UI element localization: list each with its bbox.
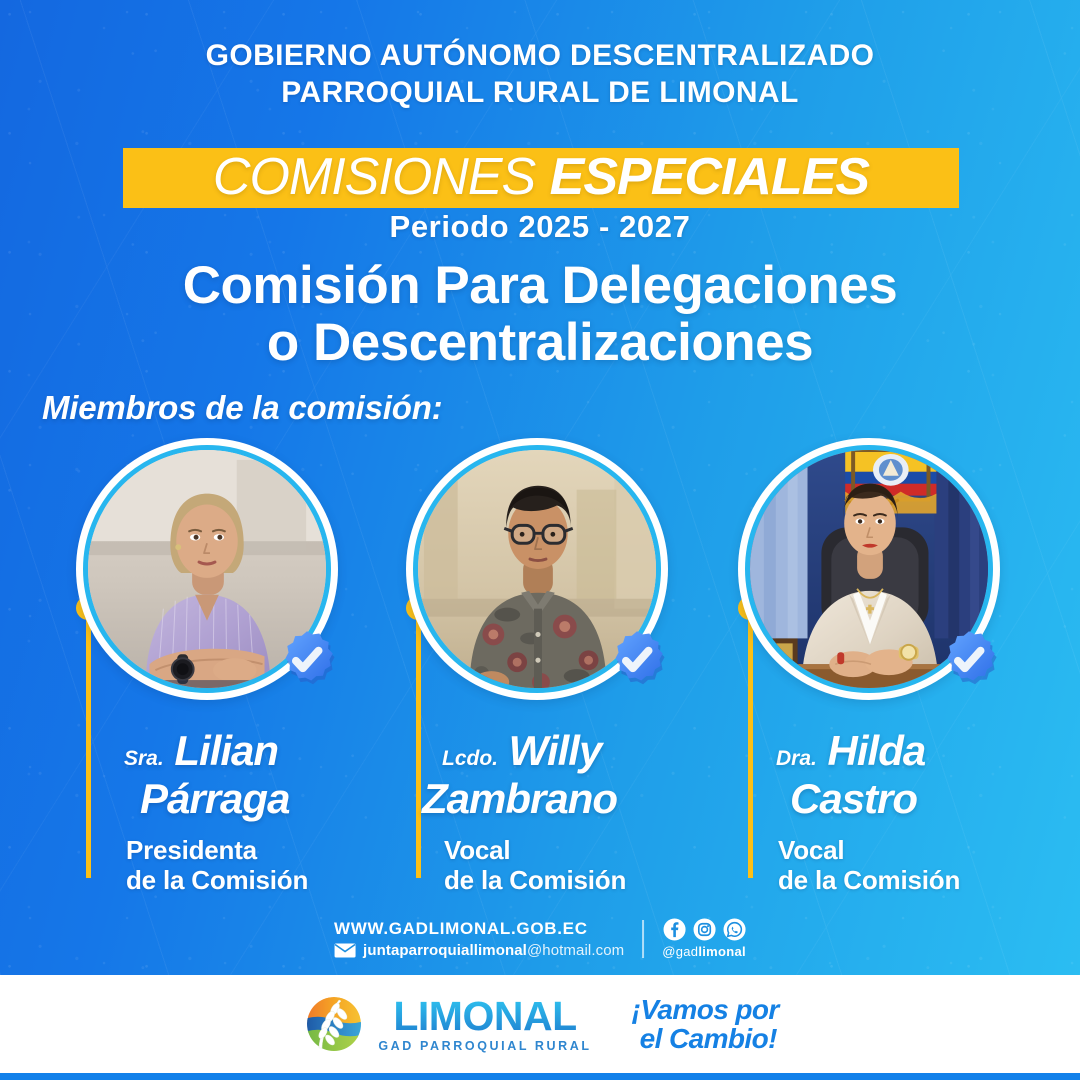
member-last-name: Zambrano: [414, 778, 704, 820]
member-last-name: Castro: [746, 778, 1036, 820]
contact-divider: [642, 920, 644, 958]
bottom-logo-bar: LIMONAL GAD PARROQUIAL RURAL ¡Vamos por …: [0, 975, 1080, 1073]
member-name-line1: Sra. Lilian: [84, 730, 374, 772]
instagram-icon[interactable]: [693, 918, 716, 941]
contact-right: @gadlimonal: [662, 918, 746, 959]
website-link[interactable]: WWW.GADLIMONAL.GOB.EC: [334, 919, 588, 939]
email-row[interactable]: juntaparroquiallimonal@hotmail.com: [334, 942, 624, 959]
member-role: Vocal de la Comisión: [746, 835, 1036, 895]
member-honorific: Sra.: [124, 747, 164, 770]
member-role-line2: de la Comisión: [444, 865, 704, 895]
logo-wordmark: LIMONAL GAD PARROQUIAL RURAL: [378, 996, 591, 1053]
bottom-blue-strip: [0, 1073, 1080, 1080]
email-text: juntaparroquiallimonal@hotmail.com: [363, 942, 624, 959]
members-heading: Miembros de la comisión:: [42, 389, 442, 427]
commission-title-line1: Comisión Para Delegaciones: [0, 258, 1080, 315]
contact-footer: WWW.GADLIMONAL.GOB.EC juntaparroquiallim…: [0, 918, 1080, 966]
verified-badge-icon: [600, 622, 674, 696]
member-honorific: Dra.: [776, 747, 817, 770]
member-name-line1: Dra. Hilda: [746, 730, 1036, 772]
comisiones-banner: COMISIONES ESPECIALES: [123, 148, 959, 208]
limonal-emblem-icon: [301, 994, 367, 1054]
envelope-icon: [334, 943, 356, 958]
social-icons: [663, 918, 746, 941]
slogan: ¡Vamos por el Cambio!: [632, 995, 779, 1053]
handle-prefix: @gad: [662, 944, 698, 959]
member-card: Dra. Hilda Castro Vocal de la Comisión: [710, 438, 1040, 888]
member-card: Lcdo. Willy Zambrano Vocal de la Comisió…: [378, 438, 708, 888]
banner-text: COMISIONES ESPECIALES: [123, 139, 959, 215]
member-honorific: Lcdo.: [442, 747, 498, 770]
email-user: juntaparroquiallimonal: [363, 942, 527, 959]
poster: GOBIERNO AUTÓNOMO DESCENTRALIZADO PARROQ…: [0, 0, 1080, 1080]
logo-name: LIMONAL: [393, 996, 576, 1037]
member-role-line1: Presidenta: [126, 835, 374, 865]
org-title-line2: PARROQUIAL RURAL DE LIMONAL: [0, 75, 1080, 112]
contact-left: WWW.GADLIMONAL.GOB.EC juntaparroquiallim…: [334, 919, 624, 959]
whatsapp-icon[interactable]: [723, 918, 746, 941]
periodo-label: Periodo 2025 - 2027: [0, 209, 1080, 245]
verified-badge-icon: [270, 622, 344, 696]
member-role-line2: de la Comisión: [778, 865, 1036, 895]
member-name-block: Lcdo. Willy Zambrano Vocal de la Comisió…: [414, 730, 704, 895]
banner-word-comisiones: COMISIONES: [213, 148, 535, 206]
member-name-block: Dra. Hilda Castro Vocal de la Comisión: [746, 730, 1036, 895]
commission-title: Comisión Para Delegaciones o Descentrali…: [0, 258, 1080, 371]
member-role: Vocal de la Comisión: [414, 835, 704, 895]
member-name-line1: Lcdo. Willy: [414, 730, 704, 772]
member-role: Presidenta de la Comisión: [84, 835, 374, 895]
logo-subtitle: GAD PARROQUIAL RURAL: [378, 1039, 591, 1053]
commission-title-line2: o Descentralizaciones: [0, 315, 1080, 372]
members-list: Sra. Lilian Párraga Presidenta de la Com…: [0, 438, 1080, 888]
member-portrait: [738, 438, 1000, 700]
member-last-name: Párraga: [84, 778, 374, 820]
contact-inner: WWW.GADLIMONAL.GOB.EC juntaparroquiallim…: [334, 918, 746, 959]
slogan-line2: el Cambio!: [632, 1024, 779, 1053]
member-role-line2: de la Comisión: [126, 865, 374, 895]
handle-suffix: limonal: [698, 944, 746, 959]
social-handle: @gadlimonal: [662, 944, 746, 959]
slogan-line1: ¡Vamos por: [632, 995, 779, 1024]
member-card: Sra. Lilian Párraga Presidenta de la Com…: [48, 438, 378, 888]
member-first-name: Willy: [509, 727, 602, 774]
member-portrait: [406, 438, 668, 700]
limonal-logo: LIMONAL GAD PARROQUIAL RURAL: [301, 994, 591, 1054]
member-role-line1: Vocal: [444, 835, 704, 865]
email-domain: @hotmail.com: [527, 942, 624, 959]
member-portrait: [76, 438, 338, 700]
member-name-block: Sra. Lilian Párraga Presidenta de la Com…: [84, 730, 374, 895]
banner-word-especiales: ESPECIALES: [550, 148, 869, 206]
member-first-name: Hilda: [828, 727, 926, 774]
organization-title: GOBIERNO AUTÓNOMO DESCENTRALIZADO PARROQ…: [0, 38, 1080, 111]
member-role-line1: Vocal: [778, 835, 1036, 865]
org-title-line1: GOBIERNO AUTÓNOMO DESCENTRALIZADO: [0, 38, 1080, 75]
facebook-icon[interactable]: [663, 918, 686, 941]
verified-badge-icon: [932, 622, 1006, 696]
member-first-name: Lilian: [174, 727, 278, 774]
